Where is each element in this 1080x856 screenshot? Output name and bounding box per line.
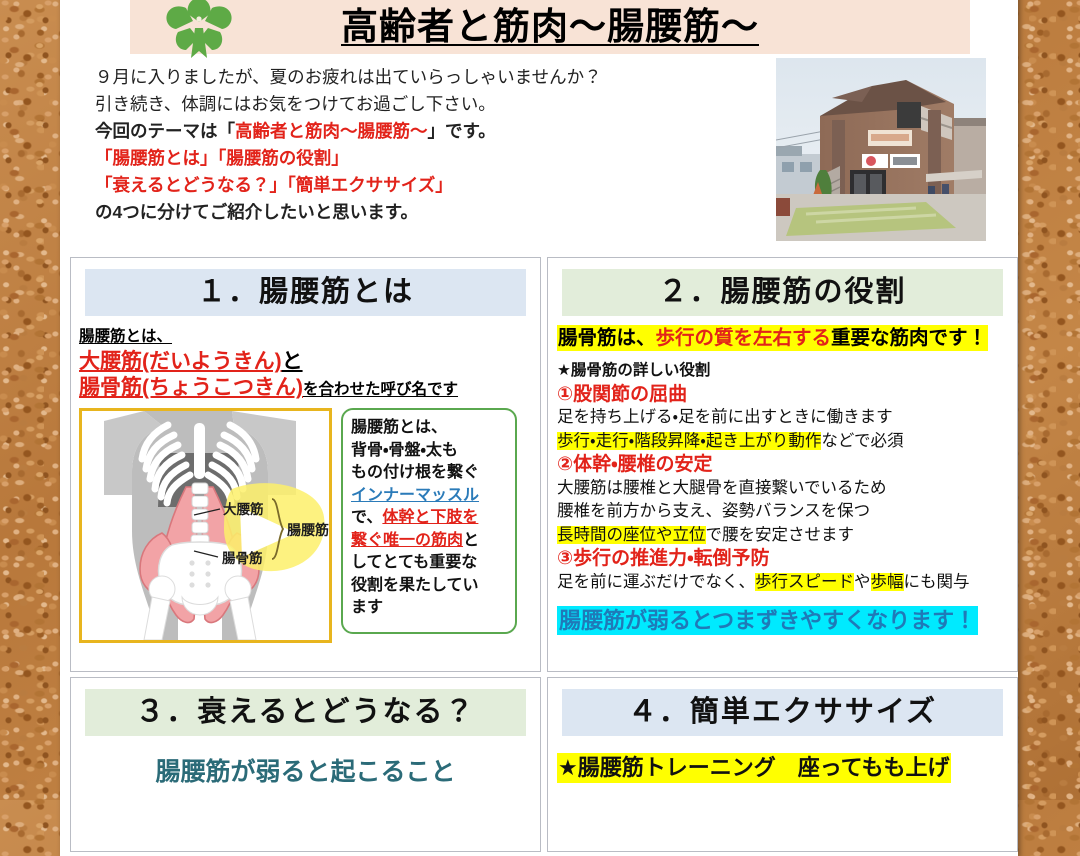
- intro-line-3: 今回のテーマは「高齢者と筋肉～腸腰筋～」です。: [95, 118, 785, 145]
- gb-line-9: ます: [351, 597, 507, 620]
- s2-item-3-pre: 足を前に運ぶだけでなく、: [557, 573, 755, 591]
- intro-topics-2: 「衰えるとどうなる？」「簡単エクササイズ」: [95, 172, 785, 199]
- gb-line-6-red: 繋ぐ唯一の筋肉: [351, 532, 463, 549]
- gb-line-3: もの付け根を繋ぐ: [351, 462, 507, 485]
- s2-item-3-mark-1: 歩行スピード: [755, 573, 854, 591]
- newsletter-page: 高齢者と筋肉～腸腰筋～ ９月に入りましたが、夏のお疲れは出ていらっしゃいませんか…: [60, 0, 1018, 856]
- gb-line-6-tail: と: [463, 532, 479, 549]
- s2-key-b: 歩行の質を左右する: [656, 327, 832, 349]
- s2-item-2-mark: 長時間の座位や立位: [557, 526, 706, 544]
- intro-paragraph: ９月に入りましたが、夏のお疲れは出ていらっしゃいませんか？ 引き続き、体調にはお…: [95, 64, 785, 226]
- gb-line-5-pre: で、: [351, 509, 382, 526]
- s1-iliacus-term: 腸骨筋(ちょうこつきん): [79, 376, 303, 399]
- gb-line-1: 腸腰筋とは、: [351, 417, 507, 440]
- section-2-role-list: ★腸骨筋の詳しい役割 ①股関節の屈曲 足を持ち上げる・足を前に出すときに働きます…: [557, 359, 1017, 594]
- s2-item-1-line-1: 足を持ち上げる・足を前に出すときに働きます: [557, 406, 1017, 430]
- s1-lead-line-2: 大腰筋(だいようきん)と: [79, 349, 540, 375]
- intro-topics-1: 「腸腰筋とは」「腸腰筋の役割」: [95, 145, 785, 172]
- section-4-header: ４．簡単エクササイズ: [562, 689, 1003, 736]
- gb-line-7: してとても重要な: [351, 552, 507, 575]
- svg-text:腸腰筋: 腸腰筋: [287, 522, 329, 538]
- s2-item-1-line-2: 歩行・走行・階段昇降・起き上がり動作などで必須: [557, 430, 1017, 454]
- intro-line-1: ９月に入りましたが、夏のお疲れは出ていらっしゃいませんか？: [95, 64, 785, 91]
- s2-item-2-head: ②体幹・腰椎の安定: [557, 453, 1017, 477]
- s2-item-1-mark: 歩行・走行・階段昇降・起き上がり動作: [557, 432, 821, 450]
- gb-line-8: 役割を果たしてい: [351, 575, 507, 598]
- gb-line-2: 背骨・骨盤・太も: [351, 440, 507, 463]
- intro-theme-name: 高齢者と筋肉～腸腰筋～: [235, 121, 428, 141]
- s2-item-2-line-3: 長時間の座位や立位で腰を安定させます: [557, 524, 1017, 548]
- gb-line-5: で、体幹と下肢を: [351, 507, 507, 530]
- section-1-lead: 腸腰筋とは、 大腰筋(だいようきん)と 腸骨筋(ちょうこつきん)を合わせた呼び名…: [79, 324, 540, 402]
- svg-text:腸骨筋: 腸骨筋: [222, 550, 263, 566]
- gb-line-6: 繋ぐ唯一の筋肉と: [351, 530, 507, 553]
- section-2-conclusion: 腸腰筋が弱るとつまずきやすくなります！: [557, 606, 978, 635]
- psoas-anatomy-diagram: 大腰筋 腸骨筋 腸腰筋: [79, 408, 332, 643]
- intro-line-2: 引き続き、体調にはお気をつけてお過ごし下さい。: [95, 91, 785, 118]
- section-3-subtitle: 腸腰筋が弱ると起こること: [71, 752, 540, 788]
- s2-item-3-line-1: 足を前に運ぶだけでなく、歩行スピードや歩幅にも関与: [557, 571, 1017, 595]
- s1-lead-conj: と: [282, 350, 303, 373]
- psoas-definition-box: 腸腰筋とは、 背骨・骨盤・太も もの付け根を繋ぐ インナーマッスル で、体幹と下…: [341, 408, 517, 634]
- s1-lead-line-1: 腸腰筋とは、: [79, 324, 540, 349]
- page-title: 高齢者と筋肉～腸腰筋～: [130, 0, 970, 54]
- section-3-header: ３．衰えるとどうなる？: [85, 689, 526, 736]
- section-4-subtitle: ★腸腰筋トレーニング 座ってもも上げ: [557, 753, 951, 783]
- building-exterior-photo: [776, 58, 986, 241]
- s1-lead-tail: を合わせた呼び名です: [303, 381, 458, 398]
- s1-lead-line-3: 腸骨筋(ちょうこつきん)を合わせた呼び名です: [79, 375, 540, 402]
- s2-item-3-mark-2: 歩幅: [871, 573, 904, 591]
- s2-item-3-mid: や: [854, 573, 871, 591]
- s2-item-1-tail: などで必須: [821, 432, 903, 450]
- section-1-body: 大腰筋 腸骨筋 腸腰筋 腸腰筋とは、 背骨・骨盤・太も もの付け根を繋ぐ インナ…: [79, 408, 540, 643]
- s2-item-1-head: ①股関節の屈曲: [557, 383, 1017, 407]
- s2-item-2-line-1: 大腰筋は腰椎と大腿骨を直接繋いでいるため: [557, 477, 1017, 501]
- section-panel-3: ３．衰えるとどうなる？ 腸腰筋が弱ると起こること: [70, 677, 541, 852]
- section-2-key-message: 腸骨筋は、歩行の質を左右する重要な筋肉です！: [557, 325, 988, 351]
- section-panel-1: １．腸腰筋とは 腸腰筋とは、 大腰筋(だいようきん)と 腸骨筋(ちょうこつきん)…: [70, 257, 541, 672]
- s1-psoas-term: 大腰筋(だいようきん): [79, 350, 282, 373]
- s2-item-3-tail: にも関与: [904, 573, 970, 591]
- s2-key-a: 腸骨筋は、: [558, 327, 656, 349]
- s2-item-2-line-2: 腰椎を前方から支え、姿勢バランスを保つ: [557, 500, 1017, 524]
- intro-theme-prefix: 今回のテーマは「: [95, 121, 235, 141]
- section-1-header: １．腸腰筋とは: [85, 269, 526, 316]
- svg-text:大腰筋: 大腰筋: [223, 501, 264, 517]
- section-panel-2: ２．腸腰筋の役割 腸骨筋は、歩行の質を左右する重要な筋肉です！ ★腸骨筋の詳しい…: [547, 257, 1018, 672]
- gb-inner-muscle-term: インナーマッスル: [351, 485, 507, 508]
- section-2-header: ２．腸腰筋の役割: [562, 269, 1003, 316]
- intro-line-6: の4つに分けてご紹介したいと思います。: [95, 199, 785, 226]
- s2-key-c: 重要な筋肉です！: [831, 327, 987, 349]
- s2-star-line: ★腸骨筋の詳しい役割: [557, 359, 1017, 383]
- title-banner: 高齢者と筋肉～腸腰筋～: [130, 0, 970, 54]
- section-panel-4: ４．簡単エクササイズ ★腸腰筋トレーニング 座ってもも上げ: [547, 677, 1018, 852]
- s2-item-2-tail: で腰を安定させます: [706, 526, 855, 544]
- intro-theme-suffix: 」です。: [428, 121, 496, 141]
- s2-item-3-head: ③歩行の推進力・転倒予防: [557, 547, 1017, 571]
- gb-line-5-red: 体幹と下肢を: [382, 509, 478, 526]
